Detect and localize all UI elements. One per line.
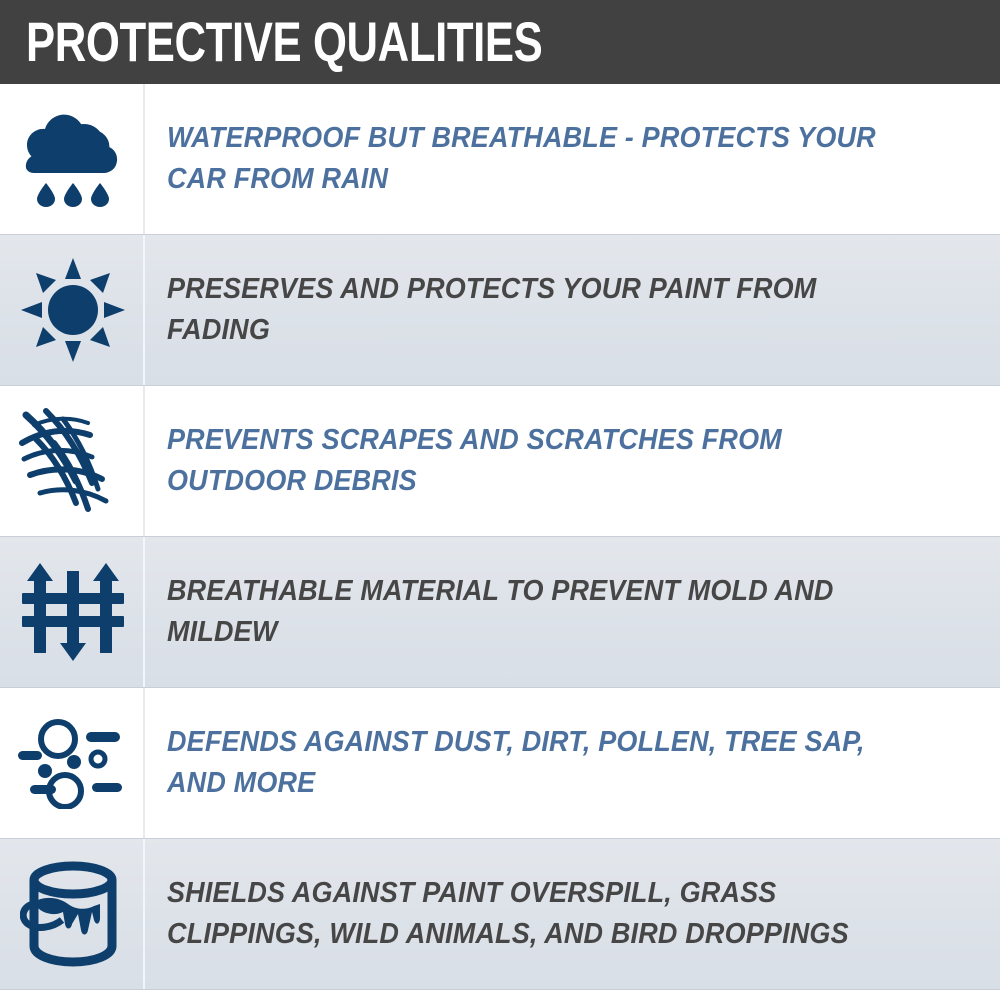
feature-row-waterproof: WATERPROOF BUT BREATHABLE - PROTECTS YOU… <box>0 84 1000 235</box>
feature-text: WATERPROOF BUT BREATHABLE - PROTECTS YOU… <box>167 118 914 199</box>
feature-text: DEFENDS AGAINST DUST, DIRT, POLLEN, TREE… <box>167 722 914 803</box>
protective-qualities-panel: PROTECTIVE QUALITIES <box>0 0 1000 1000</box>
icon-cell <box>0 537 145 687</box>
icon-cell <box>0 386 145 536</box>
text-cell: PRESERVES AND PROTECTS YOUR PAINT FROM F… <box>145 235 1000 385</box>
woven-mesh-icon <box>18 405 128 517</box>
feature-text: PRESERVES AND PROTECTS YOUR PAINT FROM F… <box>167 269 914 350</box>
feature-list: WATERPROOF BUT BREATHABLE - PROTECTS YOU… <box>0 84 1000 990</box>
feature-row-scratch-resistance: PREVENTS SCRAPES AND SCRATCHES FROM OUTD… <box>0 386 1000 537</box>
panel-header: PROTECTIVE QUALITIES <box>0 0 1000 84</box>
airflow-arrows-icon <box>20 561 126 663</box>
feature-row-paint-shield: SHIELDS AGAINST PAINT OVERSPILL, GRASS C… <box>0 839 1000 990</box>
icon-cell <box>0 839 145 989</box>
text-cell: BREATHABLE MATERIAL TO PREVENT MOLD AND … <box>145 537 1000 687</box>
sun-icon <box>21 258 125 362</box>
feature-row-uv-protection: PRESERVES AND PROTECTS YOUR PAINT FROM F… <box>0 235 1000 386</box>
text-cell: SHIELDS AGAINST PAINT OVERSPILL, GRASS C… <box>145 839 1000 989</box>
text-cell: DEFENDS AGAINST DUST, DIRT, POLLEN, TREE… <box>145 688 1000 838</box>
dust-particles-icon <box>18 717 128 809</box>
rain-cloud-icon <box>21 111 125 207</box>
feature-row-dust-defense: DEFENDS AGAINST DUST, DIRT, POLLEN, TREE… <box>0 688 1000 839</box>
feature-text: SHIELDS AGAINST PAINT OVERSPILL, GRASS C… <box>167 873 914 954</box>
feature-text: BREATHABLE MATERIAL TO PREVENT MOLD AND … <box>167 571 914 652</box>
icon-cell <box>0 235 145 385</box>
paint-can-icon <box>20 860 126 968</box>
page-title: PROTECTIVE QUALITIES <box>26 14 542 70</box>
feature-row-breathable: BREATHABLE MATERIAL TO PREVENT MOLD AND … <box>0 537 1000 688</box>
text-cell: PREVENTS SCRAPES AND SCRATCHES FROM OUTD… <box>145 386 1000 536</box>
icon-cell <box>0 84 145 234</box>
icon-cell <box>0 688 145 838</box>
feature-text: PREVENTS SCRAPES AND SCRATCHES FROM OUTD… <box>167 420 914 501</box>
text-cell: WATERPROOF BUT BREATHABLE - PROTECTS YOU… <box>145 84 1000 234</box>
